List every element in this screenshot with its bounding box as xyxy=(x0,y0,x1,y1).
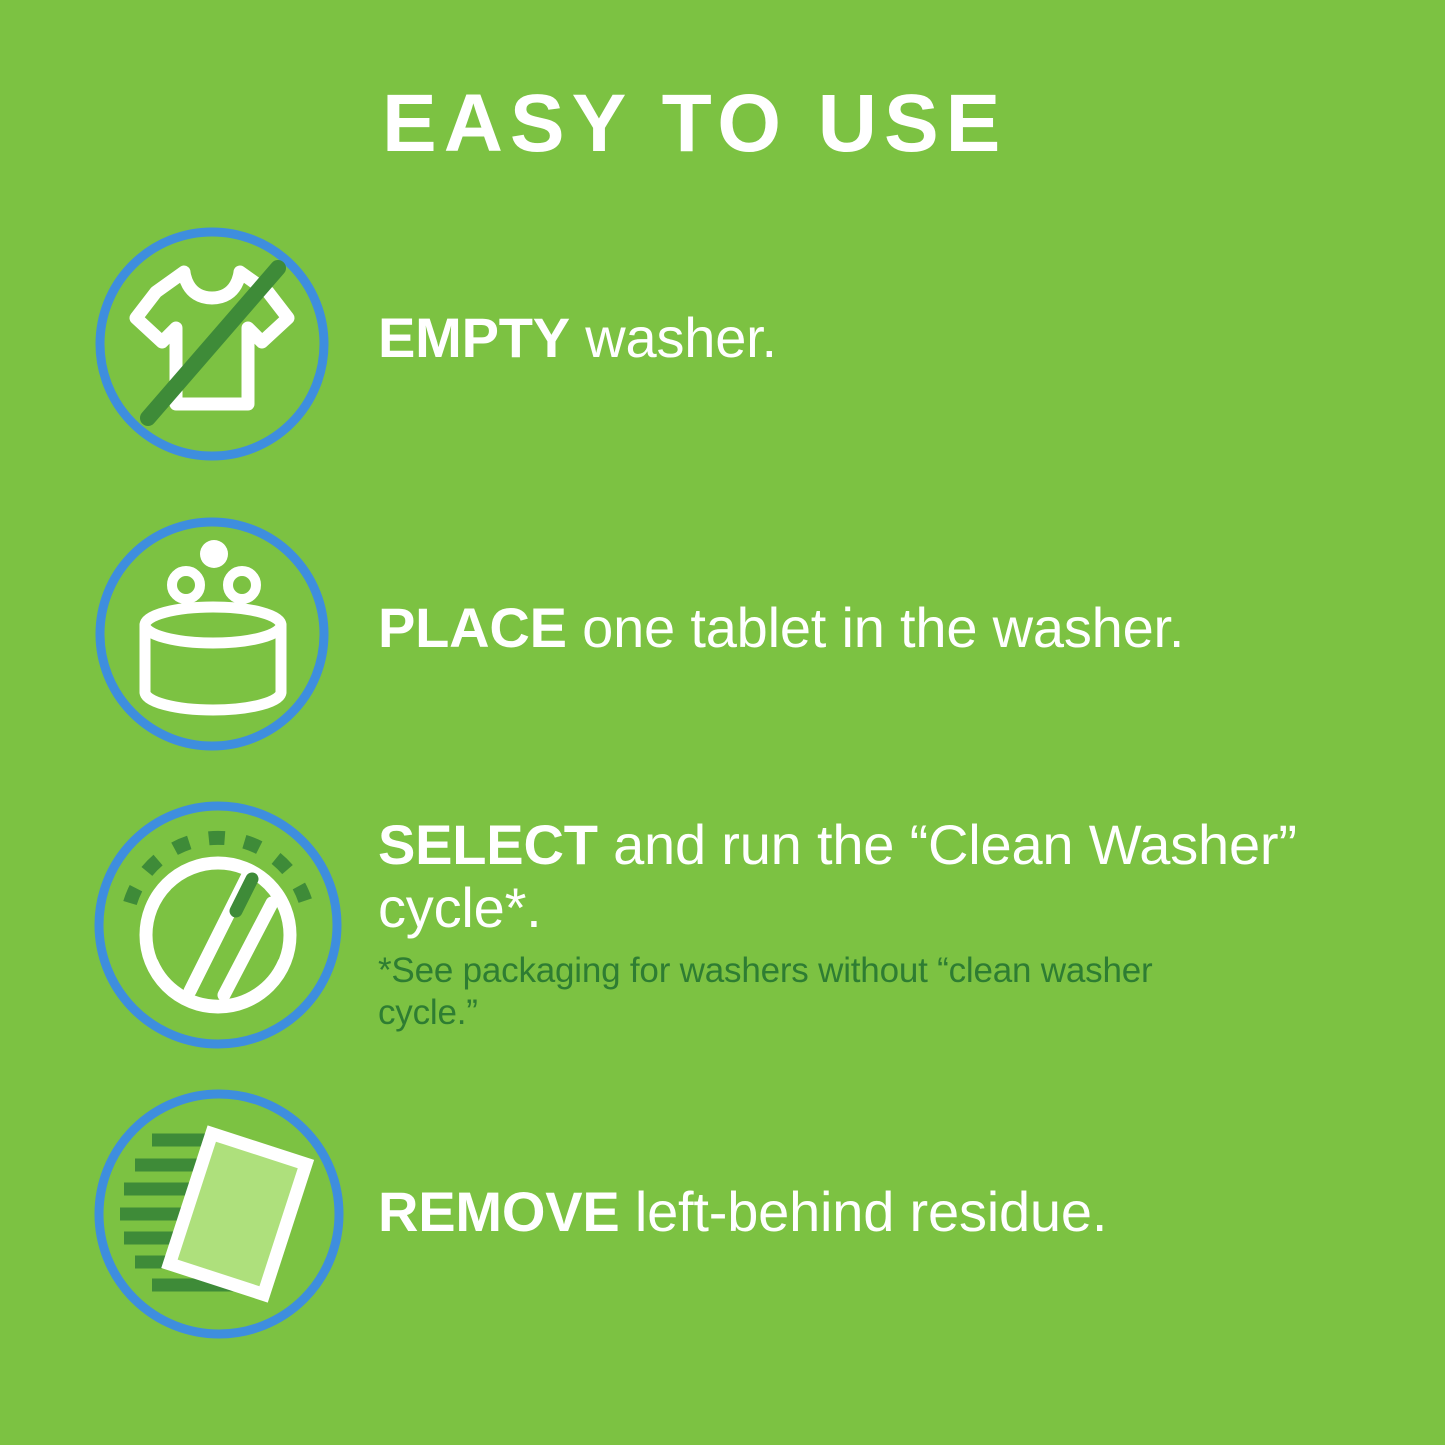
step-row-remove: REMOVE left-behind residue. xyxy=(0,1085,1445,1350)
step-text-place: PLACE one tablet in the washer. xyxy=(378,596,1388,659)
step-rest: one tablet in the washer. xyxy=(567,596,1184,659)
step-text-select: SELECT and run the “Clean Washer” cycle*… xyxy=(378,813,1388,1035)
step-row-place: PLACE one tablet in the washer. xyxy=(0,512,1445,762)
step-line: REMOVE left-behind residue. xyxy=(378,1180,1388,1243)
step-keyword: PLACE xyxy=(378,596,567,659)
step-keyword: SELECT xyxy=(378,813,598,876)
step-line: PLACE one tablet in the washer. xyxy=(378,596,1388,659)
step-row-empty: EMPTY washer. xyxy=(0,222,1445,472)
washer-dial-icon xyxy=(88,795,348,1055)
step-text-remove: REMOVE left-behind residue. xyxy=(378,1180,1388,1243)
step-keyword: REMOVE xyxy=(378,1180,620,1243)
tablet-bubbles-icon xyxy=(90,512,334,756)
step-rest: left-behind residue. xyxy=(620,1180,1108,1243)
step-footnote: *See packaging for washers without “clea… xyxy=(378,950,1258,1035)
step-keyword: EMPTY xyxy=(378,306,570,369)
step-text-empty: EMPTY washer. xyxy=(378,306,1388,369)
wipe-residue-icon xyxy=(90,1085,348,1343)
no-clothes-icon xyxy=(90,222,334,466)
step-rest: washer. xyxy=(570,306,777,369)
poster-root: EASY TO USE EMPTY washer. xyxy=(0,0,1445,1445)
step-line: EMPTY washer. xyxy=(378,306,1388,369)
step-line: SELECT and run the “Clean Washer” cycle*… xyxy=(378,813,1388,940)
page-title: EASY TO USE xyxy=(382,83,1007,165)
step-row-select: SELECT and run the “Clean Washer” cycle*… xyxy=(0,795,1445,1065)
